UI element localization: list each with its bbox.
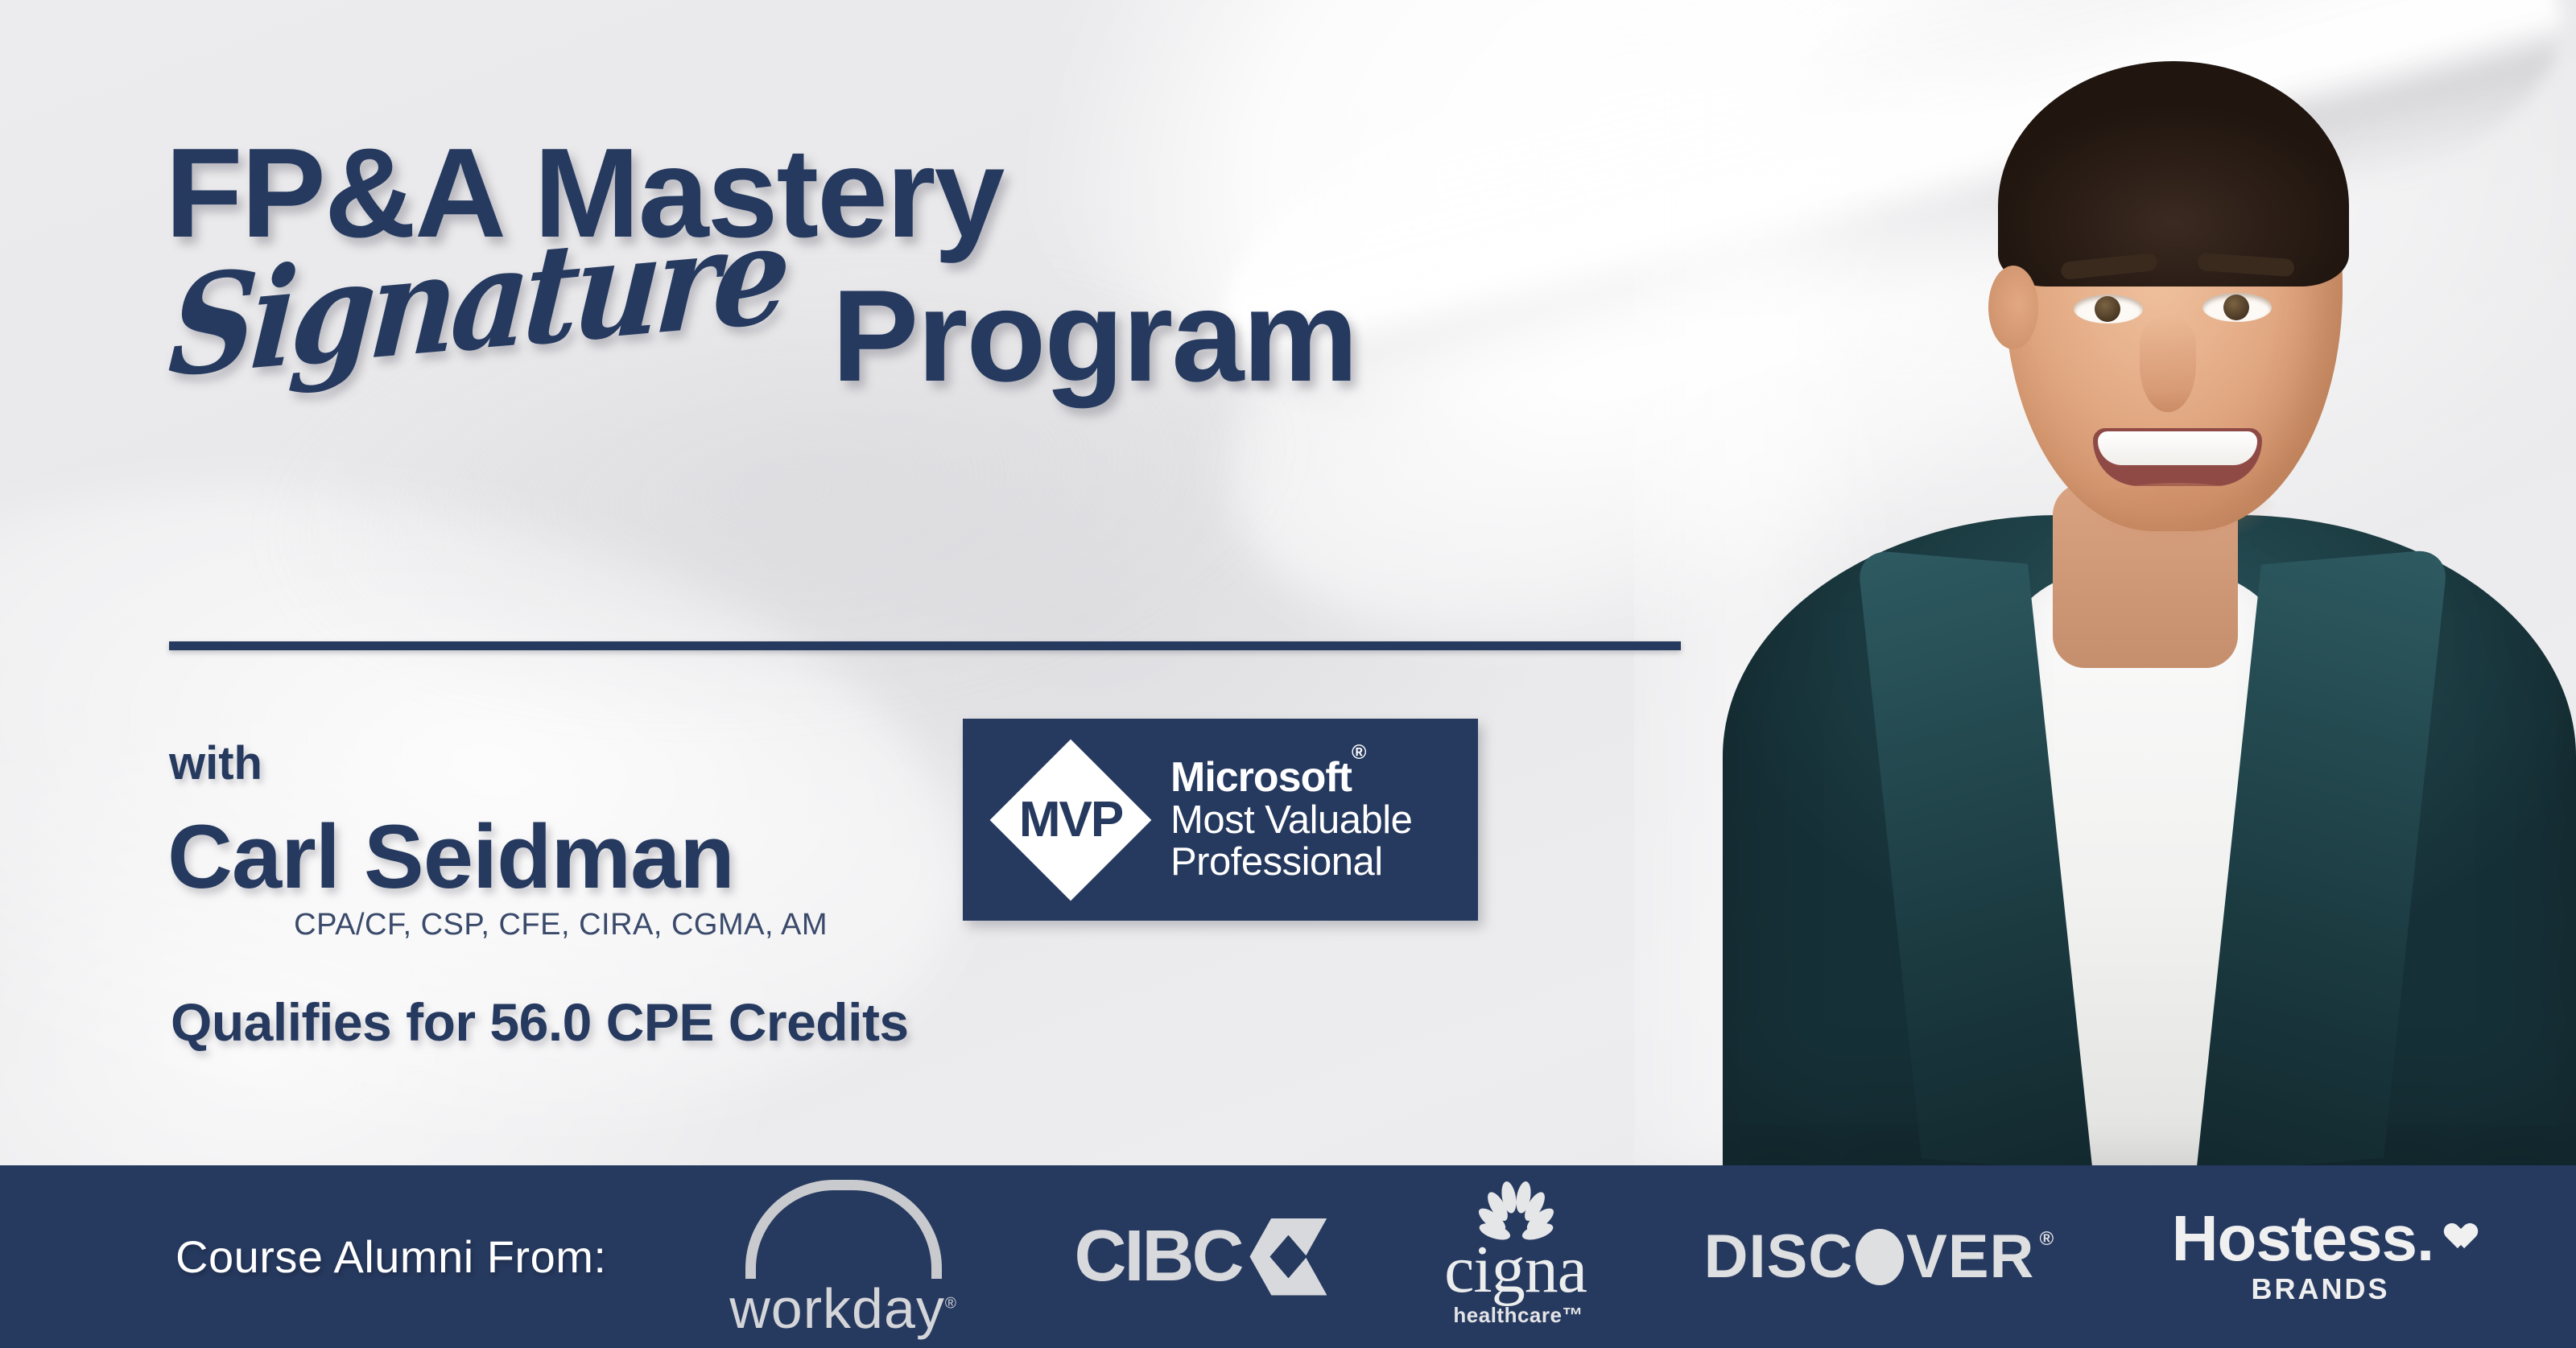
presenter-name: Carl Seidman [167,805,734,909]
promo-banner: FP&A Mastery Signature Program with Carl… [0,0,2576,1348]
discover-wordmark: DISC VER ® [1704,1222,2055,1292]
microsoft-brand-text: Microsoft [1170,754,1352,801]
workday-logo: workday® [729,1180,957,1334]
mvp-abbreviation: MVP [992,741,1150,899]
microsoft-brand: Microsoft® [1170,756,1412,800]
cibc-wordmark: CIBC [1074,1215,1241,1298]
alumni-bar: Course Alumni From: workday® CIBC [0,1165,2576,1348]
mvp-line-3: Professional [1170,842,1412,884]
registered-trademark-icon: ® [1352,741,1365,764]
title-divider [169,641,1681,650]
ear [1988,266,2038,349]
headline-second-line: Signature Program [165,271,1695,402]
smiling-mouth [2093,428,2262,486]
cigna-wordmark: cigna [1444,1239,1587,1301]
cigna-tree-icon [1447,1185,1584,1242]
iris-right [2223,295,2249,320]
workday-registered-icon: ® [945,1295,957,1312]
cibc-diamond-icon [1249,1218,1327,1296]
cigna-tm-icon: ™ [1562,1303,1583,1327]
alumni-label: Course Alumni From: [175,1231,606,1283]
microsoft-mvp-badge: MVP Microsoft® Most Valuable Professiona… [963,719,1478,921]
cibc-logo: CIBC [1074,1215,1327,1298]
hostess-period: . [2417,1208,2434,1269]
hostess-logo: Hostess . BRANDS [2172,1208,2469,1306]
hostess-text: Hostess [2172,1208,2417,1269]
mvp-diamond-icon: MVP [992,741,1150,899]
workday-text: workday [729,1277,945,1340]
program-word: Program [832,271,1356,402]
discover-registered-icon: ® [2039,1228,2054,1251]
mvp-line-2: Most Valuable [1170,800,1412,842]
alumni-logo-list: workday® CIBC cigna healthcare™ [606,1180,2576,1334]
presenter-photo [1634,0,2576,1165]
nose [2140,315,2196,412]
discover-orb-icon [1856,1229,1904,1285]
workday-arc-icon [745,1180,942,1279]
chin-shading [2073,483,2282,547]
teeth [2098,431,2257,465]
cigna-tagline: healthcare™ [1453,1303,1583,1328]
discover-logo: DISC VER ® [1704,1222,2055,1292]
cigna-tagline-text: healthcare [1453,1303,1562,1327]
hostess-brands-text: BRANDS [2251,1272,2389,1306]
hair [1998,61,2349,287]
cigna-logo: cigna healthcare™ [1444,1185,1587,1327]
mvp-wordmark: Microsoft® Most Valuable Professional [1170,756,1412,884]
headline-block: FP&A Mastery Signature Program [165,129,1695,402]
cpe-credits-line: Qualifies for 56.0 CPE Credits [171,991,909,1053]
discover-suffix: VER [1906,1222,2034,1292]
with-label: with [169,736,262,790]
hostess-wordmark: Hostess . [2172,1208,2469,1269]
heart-icon [2438,1213,2469,1240]
workday-wordmark: workday® [729,1284,957,1334]
presenter-credentials: CPA/CF, CSP, CFE, CIRA, CGMA, AM [171,908,828,942]
iris-left [2095,296,2120,322]
discover-prefix: DISC [1704,1222,1854,1292]
